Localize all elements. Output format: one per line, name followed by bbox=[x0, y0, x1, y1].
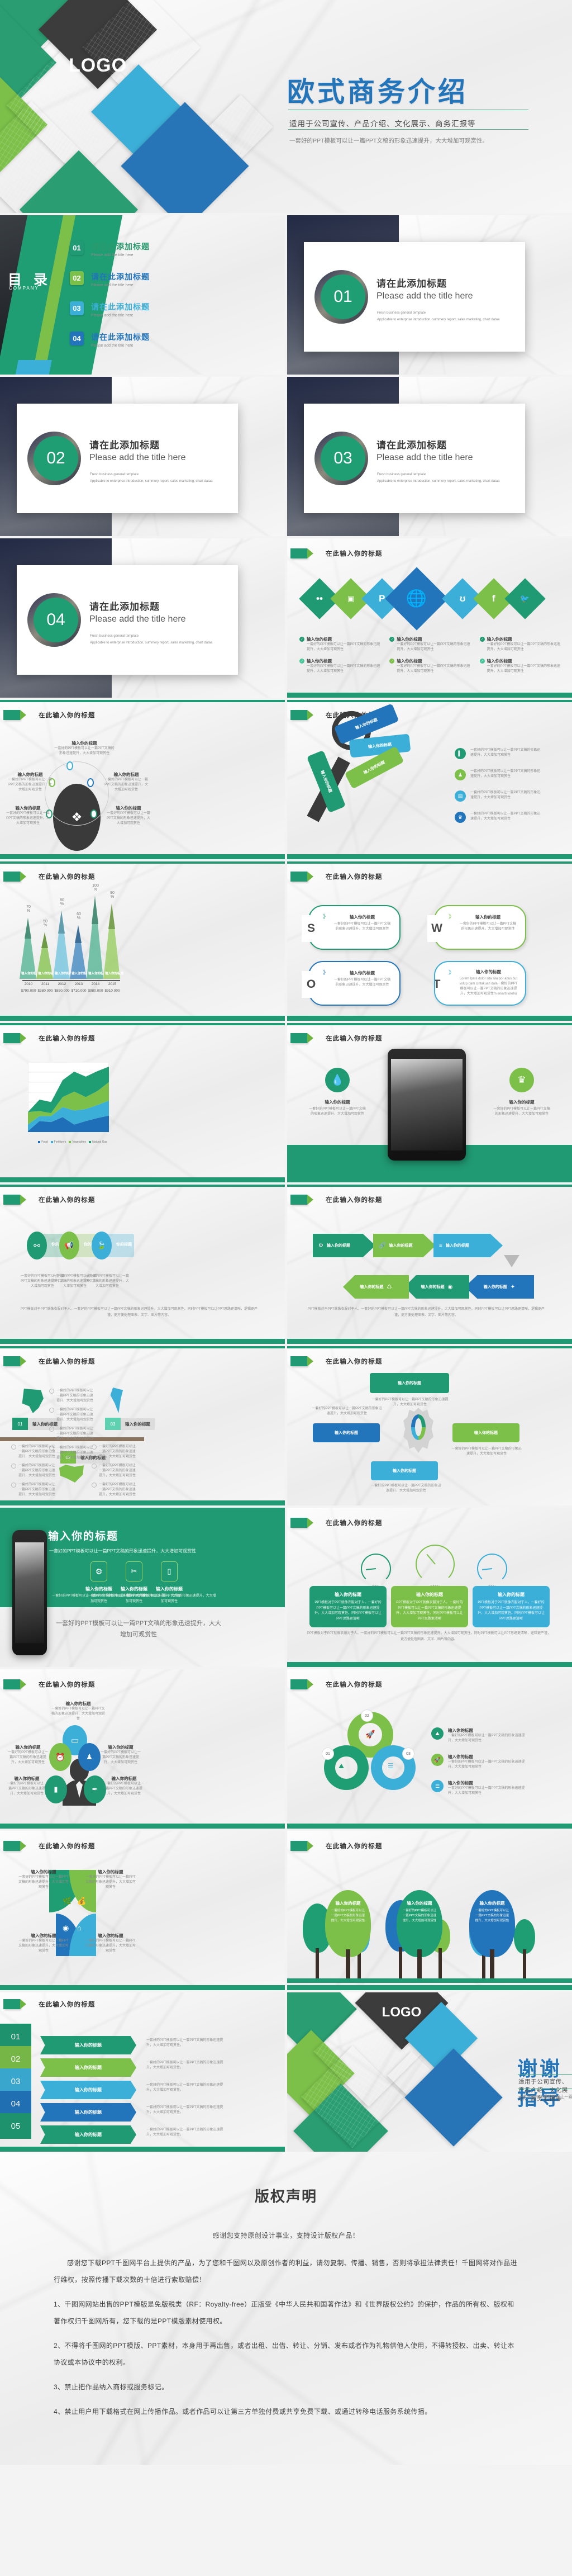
row-label: 输入你的标题 bbox=[75, 2064, 102, 2071]
map-bullets-bottom-left: 一套好的PPT模板可以让一篇PPT文稿的形象迅速提升，大大增加可观赏性一套好的P… bbox=[11, 1445, 56, 1505]
person-label-bottom-left: 输入你的标题 一套好的PPT模板可以让一篇PPT文稿的形象迅速提升，大大增加可观… bbox=[6, 1775, 48, 1797]
keys-list: ▍ 一套好的PPT模板可以让一篇PPT文稿的形象迅速提升，大大增加可观赏性 ♟ … bbox=[455, 748, 543, 823]
toc-number-4: 04 bbox=[70, 332, 84, 345]
chart-icon[interactable]: ▮ bbox=[45, 1775, 67, 1803]
cylinder-label-3: 你的标题 bbox=[116, 1242, 132, 1247]
gauge-card-title-2: 输入你的标题 bbox=[395, 1592, 464, 1598]
trees-slide: 在此输入你的标题 输入你的标题一套好的PPT模板可以让一篇PPT文稿的形象迅速提… bbox=[287, 1831, 572, 1990]
row-label: 输入你的标题 bbox=[75, 2042, 102, 2048]
map-bullet: 一套好的PPT模板可以让一篇PPT文稿的形象迅速提升，大大增加可观赏性 bbox=[11, 1483, 56, 1498]
map-bullet: 一套好的PPT模板可以让一篇PPT文稿的形象迅速提升，大大增加可观赏性 bbox=[49, 1408, 94, 1423]
swot-card-w[interactable]: W 》 输入你的标题 一套好的PPT模板可以让一篇PPT文稿的形象迅速提升，大大… bbox=[434, 905, 526, 950]
swot-letter-o: O bbox=[302, 971, 321, 998]
header-square bbox=[3, 1679, 20, 1689]
gauge-card-2[interactable]: 输入你的标题 PPT模板对于PPT就像衣服对于人。一套好的PPT模板可以让一篇P… bbox=[391, 1586, 468, 1627]
gauge-3: 80% bbox=[477, 1554, 507, 1589]
mountain-bar-label: 输入你的标题 bbox=[105, 971, 123, 976]
gauge-card-1[interactable]: 输入你的标题 PPT模板对于PPT就像衣服对于人。一套好的PPT模板可以让一篇P… bbox=[309, 1586, 387, 1627]
map-bullet-body: 一套好的PPT模板可以让一篇PPT文稿的形象迅速提升，大大增加可观赏性 bbox=[99, 1483, 136, 1498]
footer-bar bbox=[0, 2147, 285, 2152]
header-triangle-icon bbox=[307, 548, 313, 558]
check-icon bbox=[49, 1408, 54, 1413]
amount-label: $380.000 bbox=[37, 989, 54, 993]
bullet-title: 输入你的标题 bbox=[397, 658, 471, 664]
crown-icon: ♛ bbox=[455, 812, 466, 823]
section-title: 在此输入你的标题 bbox=[39, 1680, 96, 1689]
legend-item: Food bbox=[38, 1140, 47, 1144]
row-bar-03[interactable]: 输入你的标题 bbox=[40, 2081, 136, 2099]
section-title: 在此输入你的标题 bbox=[326, 1357, 383, 1366]
ring-number-01: 01 bbox=[322, 1748, 334, 1760]
tablet-mockup bbox=[388, 1049, 466, 1161]
year-label: 2015 bbox=[104, 982, 121, 986]
swot-letter-t: T bbox=[434, 971, 446, 998]
map-bullet-body: 一套好的PPT模板可以让一篇PPT文稿的形象迅速提升，大大增加可观赏性 bbox=[56, 1427, 94, 1442]
pinwheel-label-1: 输入你的标题 一套好的PPT模板可以让一篇PPT文稿的形象迅速提升，大大增加可观… bbox=[18, 1869, 69, 1890]
slide-row-1: 目 录 COMPANY 01 请在此添加标题 Please add the ti… bbox=[0, 215, 572, 375]
badge-label-bottom: 输入你的标题 bbox=[393, 1468, 416, 1474]
bullet-body: 一套好的PPT模板可以让一篇PPT文稿的形象迅速提升，大大增加可观赏性 bbox=[487, 664, 562, 674]
person-slide: 在此输入你的标题 ▭ ⏰ ♟ ▮ ✒ 输入你的标题 一套好的PPT模板可以让一篇… bbox=[0, 1669, 285, 1829]
social-bullet-1: ✓ 输入你的标题 一套好的PPT模板可以让一篇PPT文稿的形象迅速提升，大大增加… bbox=[299, 636, 382, 652]
map-bullet: 一套好的PPT模板可以让一篇PPT文稿的形象迅速提升，大大增加可观赏性 bbox=[92, 1464, 136, 1479]
row-bar-05[interactable]: 输入你的标题 bbox=[40, 2125, 136, 2144]
footer-bar bbox=[0, 854, 285, 859]
keys-list-body: 一套好的PPT模板可以让一篇PPT文稿的形象迅速提升，大大增加可观赏性 bbox=[470, 790, 543, 802]
tree-title: 输入你的标题 bbox=[474, 1900, 510, 1906]
money-icon: 💰 bbox=[77, 1897, 86, 1906]
header-square bbox=[290, 1518, 307, 1528]
node-title: 输入你的标题 bbox=[7, 1744, 49, 1750]
map-bullet-body: 一套好的PPT模板可以让一篇PPT文稿的形象迅速提升，大大增加可观赏性 bbox=[18, 1464, 56, 1479]
badge-label-left: 输入你的标题 bbox=[335, 1430, 358, 1436]
rocket-icon: 🚀 bbox=[431, 1754, 444, 1766]
swot-card-o[interactable]: O 》 输入你的标题 一套好的PPT模板可以让一篇PPT文稿的形象迅速提升，大大… bbox=[308, 961, 401, 1006]
person-label-right: 输入你的标题 一套好的PPT模板可以让一篇PPT文稿的形象迅速提升，大大增加可观… bbox=[99, 1744, 142, 1765]
gauge-card-title-1: 输入你的标题 bbox=[314, 1592, 382, 1598]
africa-map-icon bbox=[109, 1388, 125, 1413]
toc-item-4[interactable]: 04 请在此添加标题 Please add the title here bbox=[70, 332, 150, 348]
divider-line1-1: Fresh business general template bbox=[377, 311, 426, 315]
chevron-right-icon: 》 bbox=[323, 968, 328, 976]
gauge-needle bbox=[426, 1554, 435, 1565]
twitter-icon[interactable]: 🐦 bbox=[504, 578, 546, 619]
footer-bar bbox=[287, 1985, 572, 1990]
section-title: 在此输入你的标题 bbox=[39, 1195, 96, 1204]
year-label: 2012 bbox=[54, 982, 70, 986]
arrow-step-3[interactable]: ≡ 输入你的标题 bbox=[433, 1234, 503, 1257]
marker-number-01: 01 bbox=[12, 1418, 28, 1430]
footer-bar bbox=[287, 1339, 572, 1344]
cover-title: 欧式商务介绍 bbox=[287, 79, 468, 106]
maps-slide: 在此输入你的标题 01 输入你的标题 02 输入你的标题 03 输入你的标题 一… bbox=[0, 1346, 285, 1505]
divider-line2-4: Applicable to enterprise introduction, s… bbox=[90, 641, 212, 645]
badge-item-left[interactable]: 输入你的标题 bbox=[313, 1423, 380, 1442]
footer-bar bbox=[0, 1177, 285, 1182]
row-bar-04[interactable]: 输入你的标题 bbox=[40, 2103, 136, 2122]
header-triangle-icon bbox=[20, 1841, 26, 1851]
legend-item: Fertilizers bbox=[51, 1140, 66, 1144]
node-body: 一套好的PPT模板可以让一篇PPT文稿的形象迅速提升，大大增加可观赏性 bbox=[50, 1707, 106, 1722]
cover-slide: LOGO 欧式商务介绍 适用于公司宣传、产品介绍、文化展示、商务汇报等 一套好的… bbox=[0, 0, 572, 213]
amount-label: $710.000 bbox=[70, 989, 87, 993]
top-bar bbox=[287, 861, 572, 864]
check-icon bbox=[92, 1464, 97, 1469]
year-label: 2014 bbox=[87, 982, 104, 986]
section-title: 在此输入你的标题 bbox=[39, 711, 96, 719]
arrow-step-6[interactable]: 输入你的标题 ♺ bbox=[343, 1275, 409, 1299]
node-body: 一套好的PPT模板可以让一篇PPT文稿的形象迅速提升，大大增加可观赏性 bbox=[106, 811, 151, 826]
marker-label-03: 输入你的标题 bbox=[121, 1418, 155, 1430]
section-title: 在此输入你的标题 bbox=[326, 1518, 383, 1527]
tree-trunk bbox=[417, 1949, 422, 1981]
swot-card-t[interactable]: T 》 输入你的标题 Lorem Ipms dolor sita sila po… bbox=[434, 961, 526, 1006]
mountain-axis-label: 2012$850.000 bbox=[54, 982, 70, 993]
row-label: 输入你的标题 bbox=[75, 2109, 102, 2115]
badge-item-bottom[interactable]: 输入你的标题 bbox=[371, 1461, 438, 1480]
area-chart: 0204060801001201402009201020112012201320… bbox=[28, 1062, 109, 1132]
gauge-dial bbox=[416, 1545, 455, 1584]
divider-title-en-3: Please add the title here bbox=[376, 453, 473, 463]
recycle-icon: ♺ bbox=[387, 1284, 392, 1290]
mountain-peak bbox=[92, 896, 98, 924]
row-body-05: 一套好的PPT模板可以让一篇PPT文稿的形象迅速提升，大大增加可观赏性。 bbox=[146, 2128, 225, 2138]
slide-row-9: 输入你的标题 一套好的PPT模板可以让一篇PPT文稿的形象迅速提升，大大增加可观… bbox=[0, 1508, 572, 1667]
toc-slide: 目 录 COMPANY 01 请在此添加标题 Please add the ti… bbox=[0, 215, 285, 375]
arrow-label-5: 输入你的标题 bbox=[421, 1284, 445, 1290]
header-square bbox=[290, 1195, 307, 1205]
row-bar-02[interactable]: 输入你的标题 bbox=[40, 2058, 136, 2077]
map-bullet-body: 一套好的PPT模板可以让一篇PPT文稿的形象迅速提升，大大增加可观赏性 bbox=[56, 1446, 94, 1461]
cylinder-footer-text: PPT模板对于PPT就像衣服对于人。一套好的PPT模板可以让一篇PPT文稿的形象… bbox=[19, 1306, 259, 1319]
phone-right-block: ♛ 输入你的标题 一套好的PPT模板可以让一篇PPT文稿的形象迅速提升，大大增加… bbox=[493, 1068, 551, 1117]
toc-subtitle: COMPANY bbox=[9, 286, 39, 291]
bullet-title: 输入你的标题 bbox=[487, 636, 562, 642]
section-title: 在此输入你的标题 bbox=[326, 549, 383, 558]
map-bullets-top: 一套好的PPT模板可以让一篇PPT文稿的形象迅速提升，大大增加可观赏性一套好的P… bbox=[49, 1389, 94, 1465]
copyright-paragraph-1: 感谢您下载PPT千图网平台上提供的产品，为了您和千图网以及原创作者的利益，请勿复… bbox=[54, 2255, 518, 2288]
mountain-percent-label: 50% bbox=[37, 920, 54, 927]
person-label-bottom-right: 输入你的标题 一套好的PPT模板可以让一篇PPT文稿的形象迅速提升，大大增加可观… bbox=[103, 1775, 145, 1797]
divider-circle-photo-3: 03 bbox=[314, 432, 368, 485]
copyright-heading: 版权声明 bbox=[54, 2185, 518, 2206]
header-triangle-icon bbox=[307, 1679, 313, 1689]
gauge-card-3[interactable]: 输入你的标题 PPT模板对于PPT就像衣服对于人。一套好的PPT模板可以让一篇P… bbox=[473, 1586, 550, 1627]
check-icon bbox=[11, 1464, 16, 1469]
keys-list-body: 一套好的PPT模板可以让一篇PPT文稿的形象迅速提升，大大增加可观赏性 bbox=[470, 812, 543, 823]
gauge-2: 100% bbox=[416, 1545, 455, 1589]
area-chart-slide: 在此输入你的标题 0204060801001201402009201020112… bbox=[0, 1023, 285, 1182]
toc-sublabel-3: Please add the title here bbox=[91, 314, 150, 318]
row-body-02: 一套好的PPT模板可以让一篇PPT文稿的形象迅速提升，大大增加可观赏性。 bbox=[146, 2061, 225, 2071]
gauge-card-group: 输入你的标题 PPT模板对于PPT就像衣服对于人。一套好的PPT模板可以让一篇P… bbox=[309, 1586, 550, 1627]
rings-list-item-2: 🚀 输入你的标题 一套好的PPT模板可以让一篇PPT文稿的形象迅速提升，大大增加… bbox=[431, 1754, 526, 1770]
mountain-axis-label: 2010$790.000 bbox=[20, 982, 37, 993]
check-icon bbox=[92, 1483, 97, 1488]
chart-baseline bbox=[22, 980, 120, 981]
cover-description: 一套好的PPT模板可以让一篇PPT文稿的形象迅速提升，大大增加可观赏性。 bbox=[289, 136, 518, 146]
slide-row-3: 04 请在此添加标题 Please add the title here Fre… bbox=[0, 538, 572, 698]
node-title: 输入你的标题 bbox=[99, 1744, 142, 1750]
tree-trunk bbox=[438, 1948, 442, 1981]
toc-number-2: 02 bbox=[70, 271, 84, 285]
slide-row-12: 在此输入你的标题 01输入你的标题一套好的PPT模板可以让一篇PPT文稿的形象迅… bbox=[0, 1992, 572, 2152]
arrow-label-2: 输入你的标题 bbox=[389, 1243, 412, 1248]
arrows-slide: 在此输入你的标题 ⚙ 输入你的标题 🔗 输入你的标题 ≡ 输入你的标题 输入你的… bbox=[287, 1185, 572, 1344]
top-bar bbox=[287, 700, 572, 702]
gauge-dial bbox=[361, 1554, 391, 1584]
map-bullet-body: 一套好的PPT模板可以让一篇PPT文稿的形象迅速提升，大大增加可观赏性 bbox=[18, 1483, 56, 1498]
badge-label-top: 输入你的标题 bbox=[398, 1380, 421, 1386]
gauge-dial bbox=[477, 1554, 507, 1584]
section-title: 在此输入你的标题 bbox=[39, 1841, 96, 1850]
divider-line1-4: Fresh business general template bbox=[90, 634, 139, 638]
item-body: 一套好的PPT模板可以让一篇PPT文稿的形象迅速提升，大大增加可观赏性 bbox=[85, 1875, 136, 1890]
check-icon: ✓ bbox=[480, 637, 485, 642]
badge-body-bottom: 一套好的PPT模板可以让一篇PPT文稿的形象迅速提升，大大增加可观赏性 bbox=[370, 1484, 442, 1494]
node-body: 一套好的PPT模板可以让一篇PPT文稿的形象迅速提升，大大增加可观赏性 bbox=[103, 1782, 145, 1797]
legend-swatch bbox=[38, 1141, 40, 1143]
map-bullet-body: 一套好的PPT模板可以让一篇PPT文稿的形象迅速提升，大大增加可观赏性 bbox=[18, 1445, 56, 1460]
section-header: 在此输入你的标题 bbox=[3, 1999, 96, 2009]
mountain-peak bbox=[58, 911, 65, 934]
section-header: 在此输入你的标题 bbox=[3, 1195, 96, 1205]
map-bullet-body: 一套好的PPT模板可以让一篇PPT文稿的形象迅速提升，大大增加可观赏性 bbox=[99, 1445, 136, 1460]
chevron-right-icon: 》 bbox=[449, 968, 454, 976]
item-title: 输入你的标题 bbox=[85, 1933, 136, 1939]
divider-circle-photo-2: 02 bbox=[27, 432, 81, 485]
mountain-axis-label: 2013$710.000 bbox=[70, 982, 87, 993]
mountain-percent-label: 60% bbox=[70, 912, 87, 920]
mobile-title: 输入你的标题 bbox=[48, 1528, 118, 1543]
toc-item-1[interactable]: 01 请在此添加标题 Please add the title here bbox=[70, 241, 150, 257]
orbit-node-bottom-right[interactable] bbox=[90, 809, 97, 818]
list-title-2: 输入你的标题 bbox=[448, 1754, 526, 1760]
node-body: 一套好的PPT模板可以让一篇PPT文稿的形象迅速提升，大大增加可观赏性 bbox=[104, 778, 149, 793]
arrow-step-5[interactable]: 输入你的标题 ◉ bbox=[404, 1275, 469, 1299]
header-square bbox=[290, 1033, 307, 1043]
header-square bbox=[290, 872, 307, 882]
thanks-divider-bottom bbox=[518, 2089, 572, 2089]
feature-title-3: 输入你的标题 bbox=[122, 1586, 217, 1592]
arrow-step-2[interactable]: 🔗 输入你的标题 bbox=[373, 1234, 436, 1257]
numbered-list-slide: 在此输入你的标题 01输入你的标题一套好的PPT模板可以让一篇PPT文稿的形象迅… bbox=[0, 1992, 285, 2152]
node-title: 输入你的标题 bbox=[6, 805, 50, 811]
top-bar bbox=[0, 700, 285, 702]
orbit-ring bbox=[45, 761, 109, 826]
layers-icon: ≡ bbox=[439, 1243, 442, 1249]
divider-number-2: 02 bbox=[34, 436, 78, 481]
divider-slide-04: 04 请在此添加标题 Please add the title here Fre… bbox=[0, 538, 285, 698]
check-icon bbox=[11, 1483, 16, 1488]
rings-list-item-1: ⛰ 输入你的标题 一套好的PPT模板可以让一篇PPT文稿的形象迅速提升，大大增加… bbox=[431, 1727, 526, 1744]
header-triangle-icon bbox=[307, 1518, 313, 1528]
top-bar bbox=[0, 1185, 285, 1187]
orbit-node-top[interactable] bbox=[66, 761, 73, 770]
wifi-icon: ◉ bbox=[448, 1284, 453, 1290]
amount-label: $910.000 bbox=[104, 989, 121, 993]
header-square bbox=[290, 710, 307, 720]
phone-right-title: 输入你的标题 bbox=[493, 1099, 551, 1105]
tree-icon: 🌿 bbox=[63, 1897, 71, 1906]
swot-card-s[interactable]: S 》 输入你的标题 一套好的PPT模板可以让一篇PPT文稿的形象迅速提升，大大… bbox=[308, 905, 401, 950]
section-title: 在此输入你的标题 bbox=[39, 872, 96, 881]
social-bullet-2: ✓ 输入你的标题 一套好的PPT模板可以让一篇PPT文稿的形象迅速提升，大大增加… bbox=[389, 636, 471, 652]
gauge-needle bbox=[482, 1568, 492, 1570]
header-square bbox=[3, 1356, 20, 1366]
tree-body: 一套好的PPT模板可以让一篇PPT文稿的形象迅速提升，大大增加可观赏性 bbox=[474, 1909, 510, 1923]
row-bar-01[interactable]: 输入你的标题 bbox=[40, 2036, 136, 2054]
tree-canopy[interactable]: 输入你的标题一套好的PPT模板可以让一篇PPT文稿的形象迅速提升，大大增加可观赏… bbox=[325, 1890, 371, 1957]
tree-trunk bbox=[523, 1949, 526, 1981]
toc-item-2[interactable]: 02 请在此添加标题 Please add the title here bbox=[70, 271, 150, 287]
divider-card-3: 03 请在此添加标题 Please add the title here Fre… bbox=[304, 404, 525, 513]
tree-canopy[interactable]: 输入你的标题一套好的PPT模板可以让一篇PPT文稿的形象迅速提升，大大增加可观赏… bbox=[397, 1890, 442, 1957]
phone-left-body: 一套好的PPT模板可以让一篇PPT文稿的形象迅速提升，大大增加可观赏性 bbox=[308, 1107, 366, 1117]
map-marker-03[interactable]: 03 输入你的标题 bbox=[105, 1418, 155, 1430]
social-bullet-5: ✓ 输入你的标题 一套好的PPT模板可以让一篇PPT文稿的形象迅速提升，大大增加… bbox=[389, 658, 471, 674]
rings-list: ⛰ 输入你的标题 一套好的PPT模板可以让一篇PPT文稿的形象迅速提升，大大增加… bbox=[431, 1727, 526, 1796]
mountain-percent-label: 100% bbox=[87, 884, 104, 892]
cylinder-slide: 在此输入你的标题 你的标题 ⚯ 一套好的PPT模板可以让一篇PPT文稿的形象迅速… bbox=[0, 1185, 285, 1344]
chart-icon: ▍ bbox=[455, 748, 466, 759]
tree-title: 输入你的标题 bbox=[402, 1900, 437, 1906]
section-header: 在此输入你的标题 bbox=[3, 1679, 96, 1689]
list-body-2: 一套好的PPT模板可以让一篇PPT文稿的形象迅速提升，大大增加可观赏性 bbox=[448, 1760, 526, 1770]
footer-bar bbox=[287, 1662, 572, 1667]
item-title: 输入你的标题 bbox=[85, 1869, 136, 1875]
polygon-background bbox=[0, 1831, 285, 1990]
badge-body-left: 一套好的PPT模板可以让一篇PPT文稿的形象迅速提升，大大增加可观赏性 bbox=[311, 1407, 383, 1417]
header-triangle-icon bbox=[20, 1033, 26, 1043]
alarm-icon[interactable]: ⏰ bbox=[49, 1743, 71, 1771]
mountain-percent-label: 80% bbox=[54, 898, 70, 906]
toc-label-3: 请在此添加标题 bbox=[91, 301, 150, 312]
badge-slide: 在此输入你的标题 输入你的标题 一套好的PPT模板可以让一篇PPT文稿的形象迅速… bbox=[287, 1346, 572, 1505]
polygon-background bbox=[0, 1185, 285, 1344]
list-body-3: 一套好的PPT模板可以让一篇PPT文稿的形象迅速提升，大大增加可观赏性 bbox=[448, 1786, 526, 1796]
map-bullet: 一套好的PPT模板可以让一篇PPT文稿的形象迅速提升，大大增加可观赏性 bbox=[11, 1464, 56, 1479]
top-bar bbox=[287, 1185, 572, 1187]
footer-bar bbox=[0, 1985, 285, 1990]
bullet-body: 一套好的PPT模板可以让一篇PPT文稿的形象迅速提升，大大增加可观赏性 bbox=[307, 664, 382, 674]
keys-slide: 在此输入你的标题 输入你的标题 输入你的标题 输入你的标题 输入你的标题 ▍ 一… bbox=[287, 700, 572, 859]
badge-item-top[interactable]: 输入你的标题 bbox=[370, 1373, 449, 1393]
swot-body-o: 一套好的PPT模板可以让一篇PPT文稿的形象迅速提升，大大增加可观赏性 bbox=[333, 978, 392, 988]
amount-label: $980.000 bbox=[87, 989, 104, 993]
people-icon[interactable]: ♟ bbox=[78, 1743, 101, 1771]
legend-label: Vegetables bbox=[72, 1140, 86, 1144]
divider-slide-02: 02 请在此添加标题 Please add the title here Fre… bbox=[0, 377, 285, 536]
badge-item-right[interactable]: 输入你的标题 bbox=[452, 1423, 519, 1442]
arrow-step-4[interactable]: 输入你的标题 ✦ bbox=[465, 1275, 534, 1299]
orbit-node-right[interactable] bbox=[87, 778, 94, 787]
tree-canopy-back bbox=[514, 1919, 535, 1954]
node-body: 一套好的PPT模板可以让一篇PPT文稿的形象迅速提升，大大增加可观赏性 bbox=[8, 778, 53, 793]
slide-row-4: 在此输入你的标题 ❖ 输入你的标题 一套好的PPT模板可以让一篇PPT文稿的形象… bbox=[0, 700, 572, 859]
mobile-icon: ▯ bbox=[161, 1561, 178, 1581]
check-icon: ✓ bbox=[299, 659, 304, 664]
copyright-paragraph-3: 2、不得将千图网的PPT模版、PPT素材，本身用于再出售，或者出租、出借、转让、… bbox=[54, 2337, 518, 2371]
divider-slide-01: 01 请在此添加标题 Please add the title here Fre… bbox=[287, 215, 572, 375]
bullet-title: 输入你的标题 bbox=[307, 658, 382, 664]
copyright-lead: 感谢您支持原创设计事业，支持设计版权产品！ bbox=[54, 2231, 518, 2240]
toc-list: 01 请在此添加标题 Please add the title here 02 … bbox=[70, 241, 150, 362]
mountain-axis-label: 2014$980.000 bbox=[87, 982, 104, 993]
badge-pie-icon bbox=[411, 1414, 426, 1440]
section-title: 在此输入你的标题 bbox=[39, 1034, 96, 1043]
copyright-paragraph-5: 4、禁止用户用下载格式在网上传播作品。或者作品可以让第三方单独付费或共享免费下载… bbox=[54, 2403, 518, 2420]
amount-label: $850.000 bbox=[54, 989, 70, 993]
section-header: 在此输入你的标题 bbox=[3, 872, 96, 882]
chevron-right-icon: 》 bbox=[323, 912, 328, 920]
divider-circle-photo-1: 01 bbox=[314, 270, 368, 324]
bullet-body: 一套好的PPT模板可以让一篇PPT文稿的形象迅速提升，大大增加可观赏性 bbox=[307, 642, 382, 652]
people-icon: ♟ bbox=[455, 769, 466, 780]
year-label: 2013 bbox=[70, 982, 87, 986]
gauge-slide: 在此输入你的标题 80%100%80% 输入你的标题 PPT模板对于PPT就像衣… bbox=[287, 1508, 572, 1667]
gauge-footer-text: PPT模板对于PPT就像衣服对于人。一套好的PPT模板可以让一篇PPT文稿的形象… bbox=[306, 1631, 552, 1644]
mobile-caption: 一套好的PPT模板可以让一篇PPT文稿的形象迅速提升，大大增加可观赏性 bbox=[55, 1618, 222, 1641]
top-bar bbox=[287, 1346, 572, 1348]
polygon-background bbox=[287, 1185, 572, 1344]
phone-right-body: 一套好的PPT模板可以让一篇PPT文稿的形象迅速提升，大大增加可观赏性 bbox=[493, 1107, 551, 1117]
bullet-body: 一套好的PPT模板可以让一篇PPT文稿的形象迅速提升，大大增加可观赏性 bbox=[397, 642, 471, 652]
gauge-group: 80%100%80% bbox=[309, 1542, 550, 1587]
map-bullet: 一套好的PPT模板可以让一篇PPT文稿的形象迅速提升，大大增加可观赏性 bbox=[49, 1446, 94, 1461]
node-body: 一套好的PPT模板可以让一篇PPT文稿的形象迅速提升，大大增加可观赏性 bbox=[6, 1782, 48, 1797]
person-label-left: 输入你的标题 一套好的PPT模板可以让一篇PPT文稿的形象迅速提升，大大增加可观… bbox=[7, 1744, 49, 1765]
megaphone-icon: 📢 bbox=[59, 1232, 79, 1259]
header-triangle-icon bbox=[307, 1033, 313, 1043]
list-title-3: 输入你的标题 bbox=[448, 1780, 526, 1786]
header-square bbox=[3, 872, 20, 882]
keys-list-body: 一套好的PPT模板可以让一篇PPT文稿的形象迅速提升，大大增加可观赏性 bbox=[470, 748, 543, 759]
mountain-percent-label: 70% bbox=[20, 905, 37, 913]
orbit-label-left: 输入你的标题 一套好的PPT模板可以让一篇PPT文稿的形象迅速提升，大大增加可观… bbox=[8, 771, 53, 793]
tree-canopy[interactable]: 输入你的标题一套好的PPT模板可以让一篇PPT文稿的形象迅速提升，大大增加可观赏… bbox=[469, 1890, 515, 1957]
swot-letter-w: W bbox=[427, 915, 446, 942]
tree-trunk bbox=[316, 1948, 319, 1981]
toc-item-3[interactable]: 03 请在此添加标题 Please add the title here bbox=[70, 301, 150, 318]
map-bullet: 一套好的PPT模板可以让一篇PPT文稿的形象迅速提升，大大增加可观赏性 bbox=[92, 1445, 136, 1460]
section-header: 在此输入你的标题 bbox=[290, 1195, 383, 1205]
divider-number-3: 03 bbox=[321, 436, 365, 481]
person-label-top: 输入你的标题 一套好的PPT模板可以让一篇PPT文稿的形象迅速提升，大大增加可观… bbox=[50, 1701, 106, 1722]
swot-title-o: 输入你的标题 bbox=[333, 970, 392, 976]
key-tag-label: 输入你的标题 bbox=[363, 760, 386, 776]
link-icon: 🔗 bbox=[379, 1243, 385, 1249]
legend-swatch bbox=[51, 1141, 53, 1143]
section-title: 在此输入你的标题 bbox=[326, 1195, 383, 1204]
mobile-intro: 一套好的PPT模板可以让一篇PPT文稿的形象迅速提升，大大增加可观赏性 bbox=[49, 1548, 239, 1554]
area-chart-svg: 0204060801001201402009201020112012201320… bbox=[28, 1062, 109, 1132]
slide-row-5: 在此输入你的标题 输入你的标题70%输入你的标题50%输入你的标题80%输入你的… bbox=[0, 861, 572, 1021]
social-diamond-strip: •• ▣ P 🌐 ʊ f 🐦 bbox=[298, 567, 561, 629]
globe-icon[interactable]: 🌐 bbox=[385, 567, 448, 630]
copyright-paragraphs: 感谢您下载PPT千图网平台上提供的产品，为了您和千图网以及原创作者的利益，请勿复… bbox=[54, 2255, 518, 2420]
ground-bar bbox=[287, 1978, 572, 1983]
swot-letter-s: S bbox=[302, 915, 321, 942]
arrow-step-1[interactable]: ⚙ 输入你的标题 bbox=[313, 1234, 375, 1257]
rings-slide: 在此输入你的标题 02 01 03 🚀 ⛰ ☰ ⛰ 输入你的标题 一套好的PPT… bbox=[287, 1669, 572, 1829]
node-title: 输入你的标题 bbox=[103, 1775, 145, 1782]
header-triangle-icon bbox=[307, 710, 313, 720]
slide-row-8: 在此输入你的标题 01 输入你的标题 02 输入你的标题 03 输入你的标题 一… bbox=[0, 1346, 572, 1505]
section-header: 在此输入你的标题 bbox=[290, 1033, 383, 1043]
footer-bar bbox=[0, 1824, 285, 1829]
section-title: 在此输入你的标题 bbox=[326, 1034, 383, 1043]
